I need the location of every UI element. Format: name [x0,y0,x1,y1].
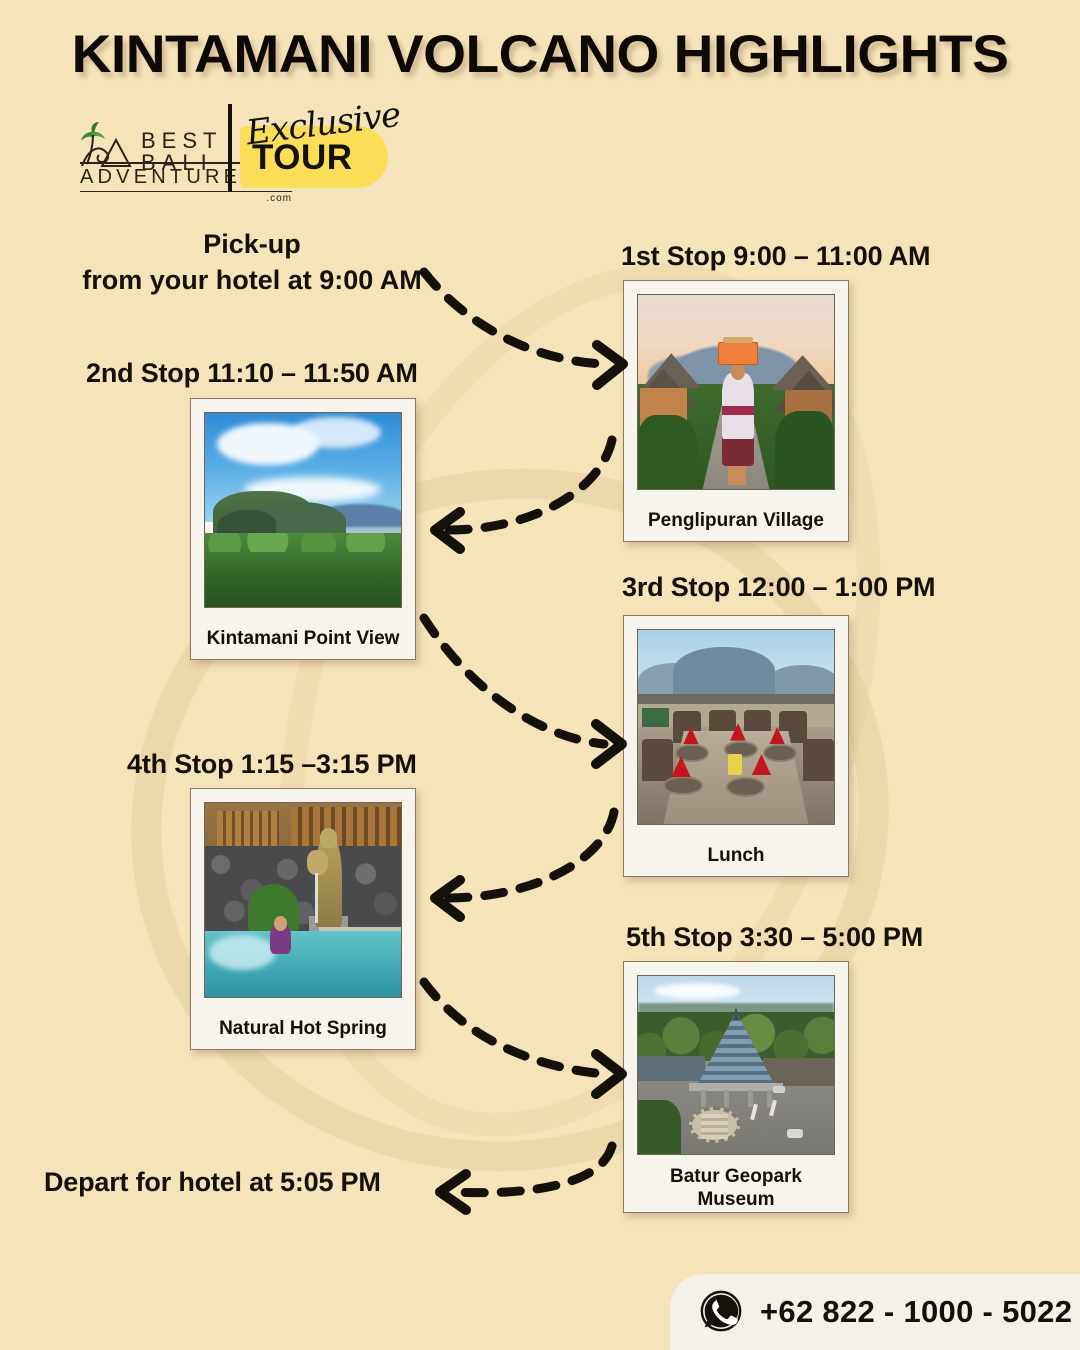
arrow-stop2-to-stop3 [424,618,604,744]
kintamani-point-view-photo [204,412,402,608]
lunch-restaurant-photo [637,629,835,825]
penglipuran-village-photo [637,294,835,490]
arrow-stop5-to-depart [452,1146,612,1193]
stop-3-caption: Lunch [706,825,767,876]
stop-2-heading: 2nd Stop 11:10 – 11:50 AM [86,358,418,389]
natural-hot-spring-photo [204,802,402,998]
stop-1-card[interactable]: Penglipuran Village [623,280,849,542]
page-title: KINTAMANI VOLCANO HIGHLIGHTS [0,24,1080,85]
stop-1-caption: Penglipuran Village [646,490,826,541]
stop-5-heading: 5th Stop 3:30 – 5:00 PM [626,922,923,953]
arrow-stop3-to-stop4 [448,812,614,898]
stop-4-heading: 4th Stop 1:15 –3:15 PM [127,749,417,780]
stop-2-card[interactable]: Kintamani Point View [190,398,416,660]
arrow-stop1-to-stop2 [448,440,612,530]
stop-3-card[interactable]: Lunch [623,615,849,877]
stop-5-caption: Batur Geopark Museum [637,1155,835,1213]
arrow-stop4-to-stop5 [424,982,604,1074]
logo-dotcom: .com [80,193,292,204]
pickup-line-2: from your hotel at 9:00 AM [42,262,462,298]
whatsapp-icon[interactable] [698,1289,744,1335]
badge-tour-text: TOUR [252,138,353,178]
stop-4-caption: Natural Hot Spring [217,998,389,1049]
stop-1-heading: 1st Stop 9:00 – 11:00 AM [621,241,930,272]
depart-note: Depart for hotel at 5:05 PM [44,1167,381,1198]
logo-rule-bottom [80,191,292,192]
stop-4-card[interactable]: Natural Hot Spring [190,788,416,1050]
arrowhead-stop5 [596,1054,622,1094]
contact-footer[interactable]: +62 822 - 1000 - 5022 [670,1274,1080,1350]
stop-3-heading: 3rd Stop 12:00 – 1:00 PM [622,572,935,603]
arrowhead-stop2 [435,512,460,549]
background-watermark-2 [175,185,986,1214]
arrowhead-stop1 [597,345,623,385]
stop-2-caption: Kintamani Point View [205,608,402,659]
arrowhead-depart [440,1174,466,1210]
logo-line-best: BEST [141,130,222,152]
batur-geopark-museum-photo [637,975,835,1155]
phone-number[interactable]: +62 822 - 1000 - 5022 [760,1294,1072,1330]
stop-5-card[interactable]: Batur Geopark Museum [623,961,849,1213]
pickup-note: Pick-up from your hotel at 9:00 AM [42,226,462,299]
arrowhead-stop3 [596,724,622,764]
pickup-line-1: Pick-up [42,226,462,262]
logo-divider [228,104,232,192]
arrowhead-stop4 [435,880,460,917]
